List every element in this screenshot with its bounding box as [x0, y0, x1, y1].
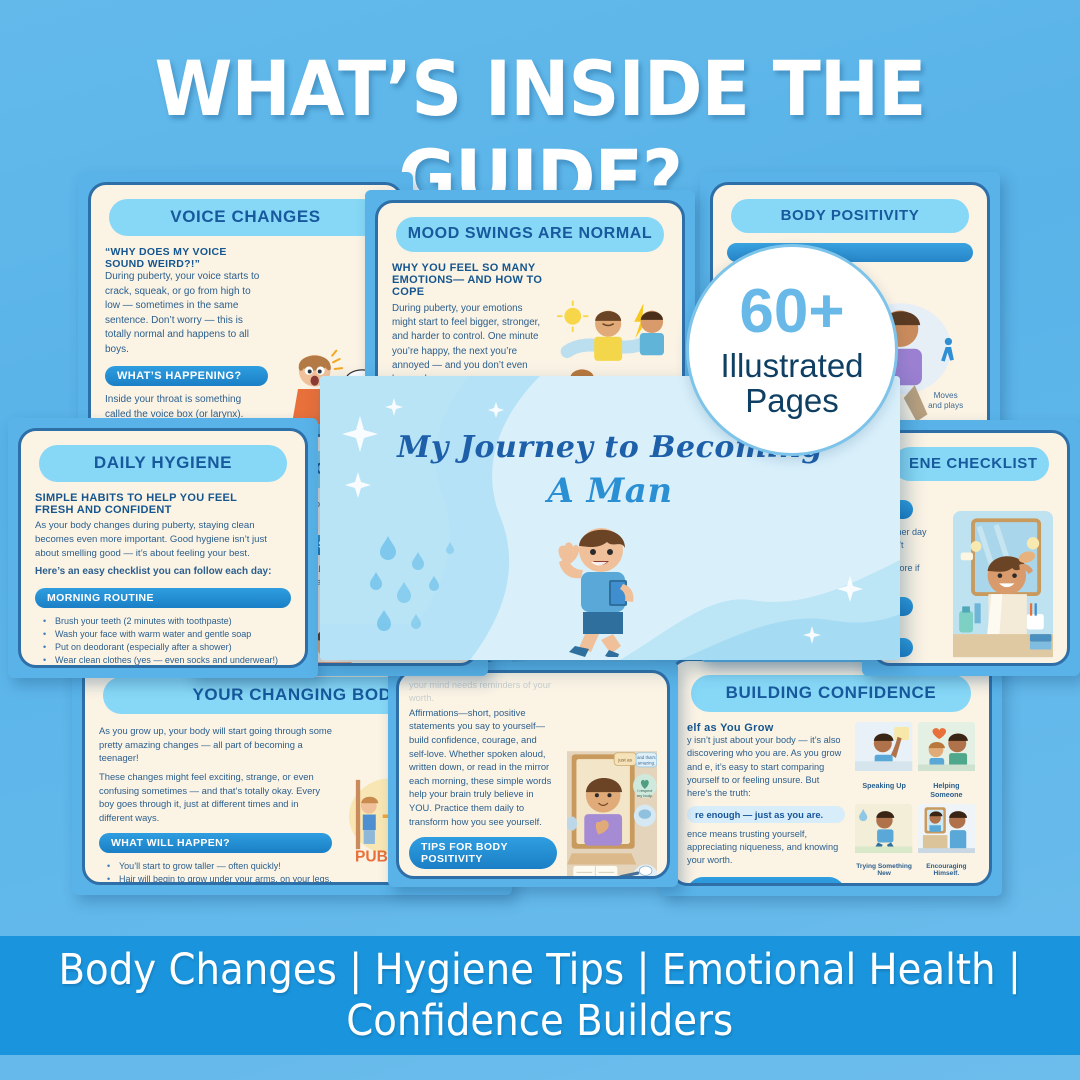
card-title: DAILY HYGIENE	[39, 445, 287, 482]
svg-text:just as: just as	[617, 757, 632, 762]
svg-text:my body.: my body.	[637, 793, 653, 798]
thumbnail-speaking-up	[855, 722, 912, 776]
thumbnail-caption: Encouraging Himself.	[918, 863, 975, 877]
helping-someone-illustration	[918, 722, 975, 771]
water-droplets-decoration	[360, 526, 500, 646]
badge-label-line1: Illustrated	[720, 347, 863, 384]
svg-text:Moves: Moves	[934, 391, 958, 400]
lead-heading-line1: WHY YOU FEEL SO MANY	[392, 262, 546, 274]
banner-text: Body Changes | Hygiene Tips | Emotional …	[59, 945, 1021, 1046]
trying-something-new-illustration	[855, 804, 912, 853]
card-sheet: ENE CHECKLIST other day on’t (more if il	[872, 430, 1070, 666]
bullet-list: Brush your teeth (2 minutes with toothpa…	[35, 615, 291, 668]
lead-faded-text: your mind needs reminders of your worth.	[409, 679, 557, 706]
lead-body-2: ence means trusting yourself, appreciati…	[687, 828, 845, 868]
lead-body: During puberty, your emotions might star…	[392, 302, 546, 387]
bullet-list: You’ll start to grow taller — often quic…	[99, 860, 332, 885]
banner-line2: Confidence Builders	[347, 996, 734, 1046]
lead-body: Affirmations—short, positive statements …	[409, 706, 557, 829]
illustration-confidence-thumbnails: Speaking Up Helping Someone	[855, 722, 975, 886]
badge-number: 60+	[739, 281, 844, 343]
text-fragment-4: il	[889, 664, 947, 666]
card-title: BUILDING CONFIDENCE	[691, 675, 971, 712]
card-title: MOOD SWINGS ARE NORMAL	[396, 217, 664, 252]
lead-body: During puberty, your voice starts to cra…	[105, 270, 268, 357]
card-title: BODY POSITIVITY	[731, 199, 969, 233]
list-item: Hair will begin to grow under your arms,…	[105, 873, 332, 885]
lead-body: As you grow up, your body will start goi…	[99, 724, 332, 765]
svg-text:amazing.: amazing.	[637, 761, 655, 766]
thumbnail-helping-someone	[918, 722, 975, 776]
card-title: ENE CHECKLIST	[893, 447, 1049, 481]
section-heading-1: TIPS FOR BODY POSITIVITY	[409, 837, 557, 869]
affirmation-mirror-illustration: just as and that's amazing. I respect my…	[567, 679, 657, 879]
lead-body-2: These changes might feel exciting, stran…	[99, 770, 332, 825]
speaking-up-illustration	[855, 722, 912, 771]
lead-heading: elf as You Grow	[687, 722, 845, 734]
card-daily-hygiene[interactable]: DAILY HYGIENE SIMPLE HABITS TO HELP YOU …	[8, 418, 318, 678]
section-heading-1: WHAT WILL HAPPEN?	[99, 833, 332, 853]
badge-label: Illustrated Pages	[720, 349, 863, 418]
card-sheet: your mind needs reminders of your worth.…	[396, 670, 670, 879]
lead-body: y isn’t just about your body — it’s also…	[687, 734, 845, 801]
thumbnail-trying-something-new	[855, 804, 912, 858]
list-item: Brush your teeth (2 minutes with toothpa…	[41, 615, 291, 628]
card-affirmations[interactable]: your mind needs reminders of your worth.…	[388, 662, 678, 887]
callout-box: re enough — just as you are.	[687, 806, 845, 823]
svg-text:My voice: My voice	[637, 878, 655, 879]
lead-body-2: Here’s an easy checklist you can follow …	[35, 565, 291, 580]
thumbnail-caption: Speaking Up	[855, 781, 912, 799]
card-title: VOICE CHANGES	[109, 199, 382, 236]
svg-text:and plays: and plays	[928, 401, 963, 410]
bottom-banner: Body Changes | Hygiene Tips | Emotional …	[0, 936, 1080, 1055]
page-count-badge[interactable]: 60+ Illustrated Pages	[686, 244, 898, 456]
list-item: Wear clean clothes (yes — even socks and…	[41, 654, 291, 667]
section-heading-1: T CONFIDENCE LOOKS LIKE	[687, 877, 845, 886]
illustration-bathroom-boy	[953, 491, 1053, 666]
hair-brushing-illustration	[953, 491, 1053, 666]
lead-heading-line2: EMOTIONS— AND HOW TO COPE	[392, 274, 546, 298]
svg-text:and that's: and that's	[637, 755, 656, 760]
cover-boy-illustration	[535, 522, 665, 657]
section-heading-1: MORNING ROUTINE	[35, 588, 291, 608]
lead-heading-line1: SIMPLE HABITS TO HELP YOU FEEL	[35, 492, 291, 504]
lead-heading-line2: FRESH AND CONFIDENT	[35, 504, 291, 516]
lead-heading: “WHY DOES MY VOICE SOUND WEIRD?!”	[105, 246, 268, 270]
thumbnail-encouraging-himself	[918, 804, 975, 858]
cover-title-line2: A Man	[320, 469, 900, 515]
card-sheet: DAILY HYGIENE SIMPLE HABITS TO HELP YOU …	[18, 428, 308, 668]
thumbnail-caption: Trying Something New	[855, 863, 912, 877]
badge-label-line2: Pages	[745, 382, 839, 419]
lead-body: As your body changes during puberty, sta…	[35, 519, 291, 561]
card-building-confidence[interactable]: BUILDING CONFIDENCE elf as You Grow y is…	[660, 648, 1002, 896]
card-sheet: BUILDING CONFIDENCE elf as You Grow y is…	[670, 658, 992, 886]
list-item: Comb or brush your hair	[41, 667, 291, 668]
thumbnail-caption: Helping Someone	[918, 781, 975, 799]
bullet-list: “I am growing, and that’s amazing.” “I’m…	[409, 876, 557, 879]
list-item: “I am growing, and that’s amazing.”	[415, 876, 557, 879]
illustration-affirmation-mirror: just as and that's amazing. I respect my…	[567, 679, 657, 879]
banner-line1: Body Changes | Hygiene Tips | Emotional …	[59, 945, 1021, 995]
list-item: Put on deodorant (especially after a sho…	[41, 641, 291, 654]
section-heading-1: WHAT’S HAPPENING?	[105, 366, 268, 386]
list-item: You’ll start to grow taller — often quic…	[105, 860, 332, 873]
encouraging-himself-illustration	[918, 804, 975, 853]
list-item: Wash your face with warm water and gentl…	[41, 628, 291, 641]
